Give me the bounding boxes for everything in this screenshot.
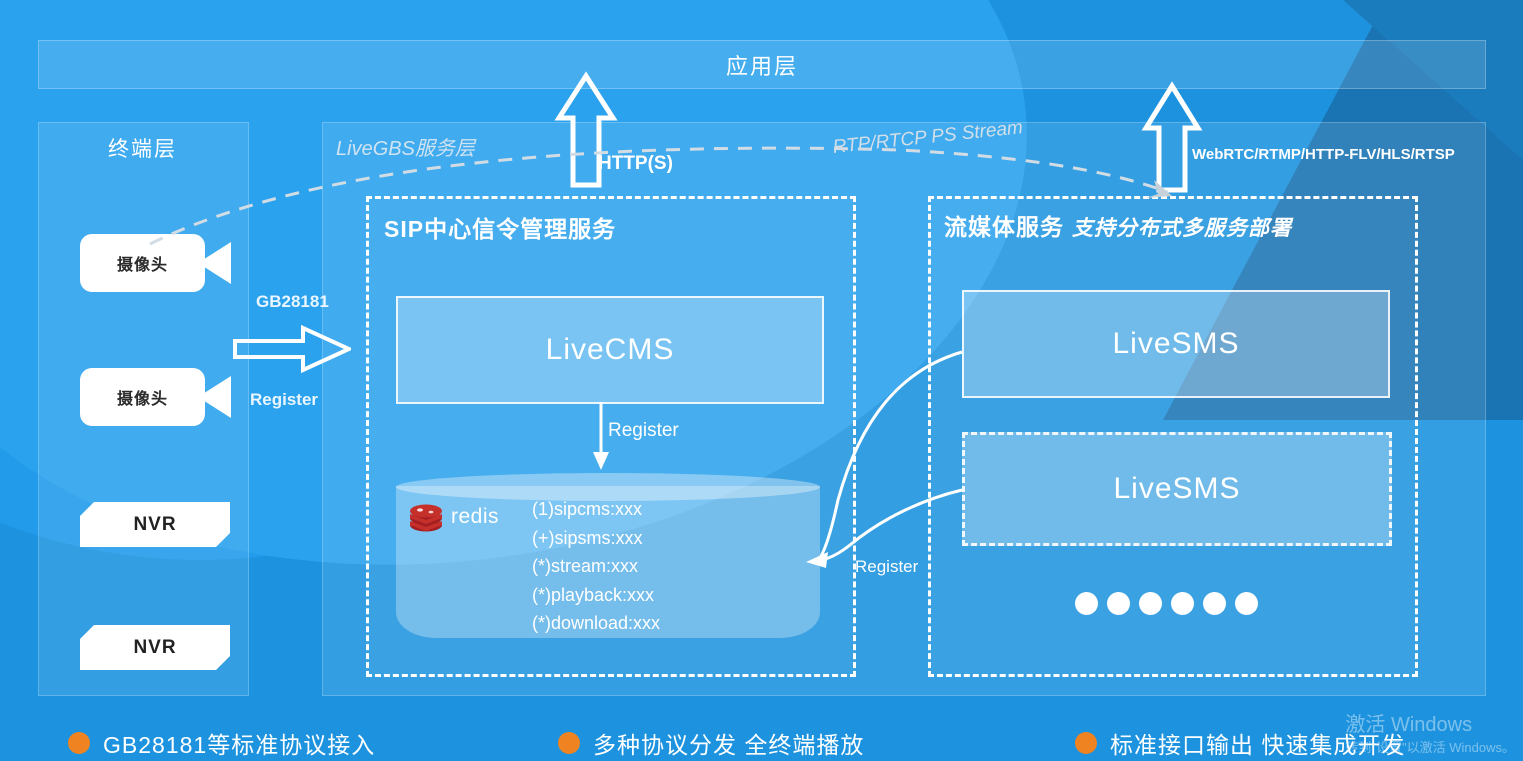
media-service-title: 流媒体服务支持分布式多服务部署 [944,208,1292,242]
feature-text: 多种协议分发 全终端播放 [593,726,864,760]
dot [1235,592,1258,615]
feature-text: 标准接口输出 快速集成开发 [1110,726,1405,760]
gb28181-register-label: Register [250,390,318,410]
livesms-label: LiveSMS [1113,472,1240,506]
redis-key: (*)playback:xxx [532,581,660,610]
sms-register-label: Register [855,557,918,577]
sip-service-title: SIP中心信令管理服务 [384,210,616,244]
redis-datastore: redis (1)sipcms:xxx (+)sipsms:xxx (*)str… [396,473,820,651]
terminal-layer-title: 终端层 [38,133,247,163]
bullet-icon [558,732,580,754]
livesms-service-block-1[interactable]: LiveSMS [962,290,1390,398]
bullet-icon [68,732,90,754]
feature-item-3: 标准接口输出 快速集成开发 [1075,726,1405,760]
redis-key: (+)sipsms:xxx [532,524,660,553]
redis-logo-text: redis [451,505,499,529]
device-nvr-1: NVR [80,502,230,547]
feature-item-1: GB28181等标准协议接入 [68,726,375,760]
device-nvr-2: NVR [80,625,230,670]
http-protocol-label: HTTP(S) [598,153,673,175]
redis-stack-icon [408,501,444,533]
livesms-service-block-2[interactable]: LiveSMS [962,432,1392,546]
redis-key-list: (1)sipcms:xxx (+)sipsms:xxx (*)stream:xx… [532,495,660,638]
device-label: 摄像头 [80,234,205,292]
feature-bar: GB28181等标准协议接入 多种协议分发 全终端播放 标准接口输出 快速集成开… [0,712,1523,761]
diagram-canvas: 应用层 终端层 摄像头 摄像头 NVR NVR GB28181 Register… [0,0,1523,761]
redis-key: (*)stream:xxx [532,552,660,581]
feature-text: GB28181等标准协议接入 [103,726,375,760]
webrtc-protocol-label: WebRTC/RTMP/HTTP-FLV/HLS/RTSP [1192,146,1455,163]
media-service-subtitle: 支持分布式多服务部署 [1072,217,1292,240]
redis-key: (1)sipcms:xxx [532,495,660,524]
livecms-label: LiveCMS [546,333,675,367]
application-layer-bar: 应用层 [38,40,1486,89]
redis-logo: redis [408,501,499,533]
feature-item-2: 多种协议分发 全终端播放 [558,726,864,760]
dot [1139,592,1162,615]
dot [1075,592,1098,615]
application-layer-title: 应用层 [726,49,798,81]
cms-register-label: Register [608,420,679,442]
gb28181-protocol-label: GB28181 [256,292,329,312]
dot [1171,592,1194,615]
more-instances-dots [1075,592,1258,615]
livecms-service-block[interactable]: LiveCMS [396,296,824,404]
device-camera-1: 摄像头 [80,234,230,292]
livesms-label: LiveSMS [1112,327,1239,361]
media-service-title-main: 流媒体服务 [944,214,1064,240]
service-layer-title: LiveGBS服务层 [336,132,475,161]
dot [1203,592,1226,615]
redis-key: (*)download:xxx [532,609,660,638]
device-label: 摄像头 [80,368,205,426]
bullet-icon [1075,732,1097,754]
device-camera-2: 摄像头 [80,368,230,426]
dot [1107,592,1130,615]
